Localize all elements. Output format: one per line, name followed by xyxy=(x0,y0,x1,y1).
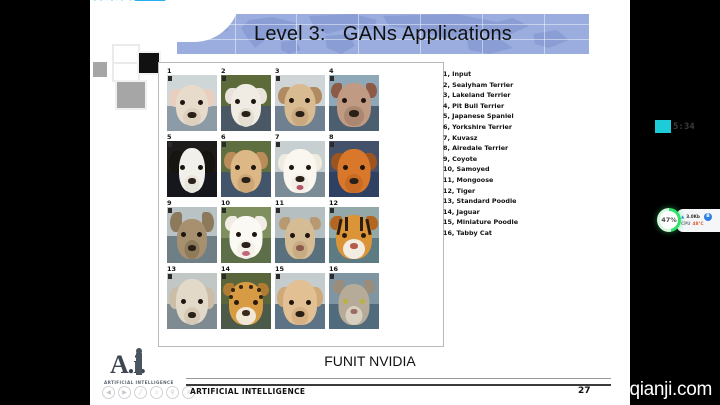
page-title: Level 3: GANs Applications xyxy=(177,14,589,54)
brand-char-2: 東 xyxy=(106,0,118,1)
slide-canvas: Level 3: GANs Applications 智 東 西 公开课 1 xyxy=(90,0,630,405)
cpu-label: CPU xyxy=(681,221,691,227)
legend-item: 5, Japanese Spaniel xyxy=(443,111,563,122)
decor-square-gray xyxy=(115,80,147,110)
footer-label: ARTIFICIAL INTELLIGENCE xyxy=(190,387,305,396)
animal-thumbnail[interactable] xyxy=(275,141,325,197)
search-icon[interactable]: ⚲ xyxy=(166,386,179,399)
animal-thumbnail[interactable] xyxy=(221,75,271,131)
grid-cell[interactable]: 5 xyxy=(167,133,217,197)
animal-thumbnail[interactable] xyxy=(167,141,217,197)
grid-cell[interactable]: 16 xyxy=(329,265,379,329)
person-icon-body xyxy=(136,351,142,375)
cell-number: 14 xyxy=(221,265,271,273)
ai-logo-subtitle: ARTIFICIAL INTELLIGENCE xyxy=(104,380,174,385)
animal-thumbnail[interactable] xyxy=(221,141,271,197)
grid-cell[interactable]: 7 xyxy=(275,133,325,197)
cell-number: 1 xyxy=(167,67,217,75)
cell-number: 10 xyxy=(221,199,271,207)
grid-cell[interactable]: 4 xyxy=(329,67,379,131)
forward-icon[interactable]: ▶ xyxy=(118,386,131,399)
ai-logo-icon-row: ◀ ▶ ╱ ⌂ ⚲ ≡ xyxy=(102,386,195,399)
screen: Level 3: GANs Applications 智 東 西 公开课 1 xyxy=(0,0,720,405)
breed-legend: 1, Input 2, Sealyham Terrier 3, Lakeland… xyxy=(443,69,563,239)
cell-number: 6 xyxy=(221,133,271,141)
legend-item: 1, Input xyxy=(443,69,563,80)
brand-tag: 公开课 xyxy=(134,0,166,1)
legend-item: 9, Coyote xyxy=(443,154,563,165)
animal-thumbnail[interactable] xyxy=(221,207,271,263)
pencil-icon[interactable]: ╱ xyxy=(134,386,147,399)
figure-panel: 1 2 xyxy=(158,62,444,347)
legend-item: 4, Pit Bull Terrier xyxy=(443,101,563,112)
animal-thumbnail[interactable] xyxy=(329,75,379,131)
decor-square-white xyxy=(112,62,140,82)
footer-rule xyxy=(186,384,611,386)
app-badge-icon: B xyxy=(704,213,712,221)
clock-time: 5:34 xyxy=(671,122,695,132)
animal-thumbnail[interactable] xyxy=(275,75,325,131)
animal-thumbnail[interactable] xyxy=(329,141,379,197)
network-speed-row: ▲ 3.0Kb B xyxy=(681,213,720,221)
animal-thumbnail[interactable] xyxy=(329,207,379,263)
animal-thumbnail[interactable] xyxy=(167,75,217,131)
cell-number: 13 xyxy=(167,265,217,273)
cpu-usage-label: 47% xyxy=(660,211,678,229)
legend-item: 12, Tiger xyxy=(443,186,563,197)
cell-number: 3 xyxy=(275,67,325,75)
grid-cell[interactable]: 3 xyxy=(275,67,325,131)
grid-row: 5 6 xyxy=(167,133,379,197)
grid-cell[interactable]: 13 xyxy=(167,265,217,329)
cell-number: 7 xyxy=(275,133,325,141)
grid-row: 1 2 xyxy=(167,67,379,131)
animal-thumbnail[interactable] xyxy=(167,207,217,263)
grid-cell[interactable]: 8 xyxy=(329,133,379,197)
legend-item: 3, Lakeland Terrier xyxy=(443,90,563,101)
legend-item: 14, Jaguar xyxy=(443,207,563,218)
cpu-usage-ring: 47% xyxy=(657,208,681,232)
cell-number: 2 xyxy=(221,67,271,75)
cell-number: 11 xyxy=(275,199,325,207)
legend-item: 2, Sealyham Terrier xyxy=(443,80,563,91)
grid-cell[interactable]: 14 xyxy=(221,265,271,329)
site-watermark: aiqianji.com xyxy=(615,379,712,401)
animal-thumbnail[interactable] xyxy=(275,273,325,329)
cell-number: 8 xyxy=(329,133,379,141)
back-icon[interactable]: ◀ xyxy=(102,386,115,399)
legend-item: 16, Tabby Cat xyxy=(443,228,563,239)
legend-item: 6, Yorkshire Terrier xyxy=(443,122,563,133)
grid-cell[interactable]: 1 xyxy=(167,67,217,131)
grid-row: 9 10 xyxy=(167,199,379,263)
brand-char-1: 智 xyxy=(92,0,104,1)
grid-cell[interactable]: 11 xyxy=(275,199,325,263)
animal-thumbnail[interactable] xyxy=(329,273,379,329)
cell-number: 4 xyxy=(329,67,379,75)
grid-cell[interactable]: 10 xyxy=(221,199,271,263)
grid-cell[interactable]: 6 xyxy=(221,133,271,197)
legend-item: 15, Miniature Poodle xyxy=(443,217,563,228)
footer-rule-thin xyxy=(186,378,611,379)
legend-item: 7, Kuvasz xyxy=(443,133,563,144)
legend-item: 13, Standard Poodle xyxy=(443,196,563,207)
animal-thumbnail[interactable] xyxy=(221,273,271,329)
clock-swatch xyxy=(655,120,671,133)
cell-number: 16 xyxy=(329,265,379,273)
home-icon[interactable]: ⌂ xyxy=(150,386,163,399)
brand-logo: 智 東 西 公开课 xyxy=(92,0,166,1)
performance-stats-card: ▲ 3.0Kb B CPU 48°C xyxy=(677,209,720,232)
grid-cell[interactable]: 12 xyxy=(329,199,379,263)
cell-number: 15 xyxy=(275,265,325,273)
animal-thumbnail[interactable] xyxy=(167,273,217,329)
grid-cell[interactable]: 9 xyxy=(167,199,217,263)
ai-brand-logo: A.i. ARTIFICIAL INTELLIGENCE ◀ ▶ ╱ ⌂ ⚲ ≡ xyxy=(102,348,188,392)
figure-caption: FUNIT NVIDIA xyxy=(240,353,500,369)
network-speed-value: 3.0Kb xyxy=(686,214,700,220)
grid-row: 13 14 xyxy=(167,265,379,329)
legend-item: 8, Airedale Terrier xyxy=(443,143,563,154)
legend-item: 11, Mongoose xyxy=(443,175,563,186)
clock-overlay: 5:34 xyxy=(655,120,695,133)
animal-thumbnail[interactable] xyxy=(275,207,325,263)
decor-square-gray xyxy=(93,62,107,77)
performance-monitor-overlay[interactable]: 47% ▲ 3.0Kb B CPU 48°C xyxy=(657,208,720,232)
cpu-temp-row: CPU 48°C xyxy=(681,221,720,227)
cell-number: 5 xyxy=(167,133,217,141)
animal-image-grid: 1 2 xyxy=(167,67,379,341)
upload-arrow-icon: ▲ xyxy=(681,214,684,220)
page-number: 27 xyxy=(578,386,591,396)
legend-item: 10, Samoyed xyxy=(443,164,563,175)
cell-number: 12 xyxy=(329,199,379,207)
cell-number: 9 xyxy=(167,199,217,207)
grid-cell[interactable]: 15 xyxy=(275,265,325,329)
brand-char-3: 西 xyxy=(120,0,132,1)
grid-cell[interactable]: 2 xyxy=(221,67,271,131)
cpu-temp-value: 48°C xyxy=(693,221,704,227)
